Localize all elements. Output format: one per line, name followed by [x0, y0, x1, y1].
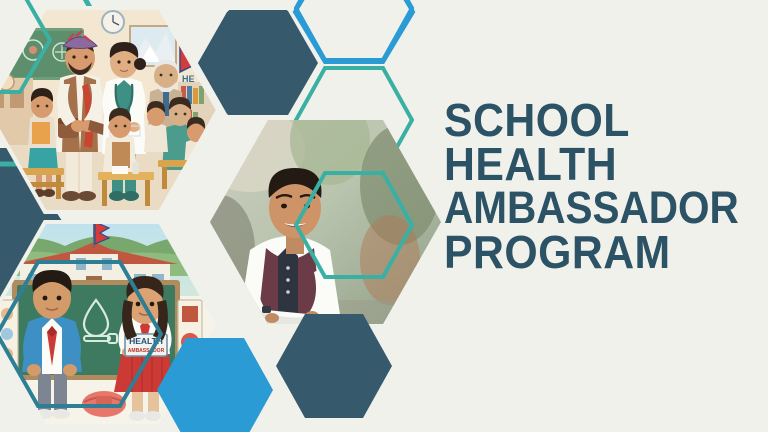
- title-line-3: AMBASSADOR: [444, 186, 732, 230]
- poster-canvas: HE: [0, 0, 768, 432]
- page-title: SCHOOL HEALTH AMBASSADOR PROGRAM: [444, 98, 764, 274]
- svg-text:HE: HE: [182, 74, 195, 84]
- title-line-4: PROGRAM: [444, 230, 742, 274]
- ambassador-label: AMBASSADOR: [128, 348, 165, 354]
- title-line-1: SCHOOL: [444, 98, 742, 142]
- title-line-2: HEALTH: [444, 142, 742, 186]
